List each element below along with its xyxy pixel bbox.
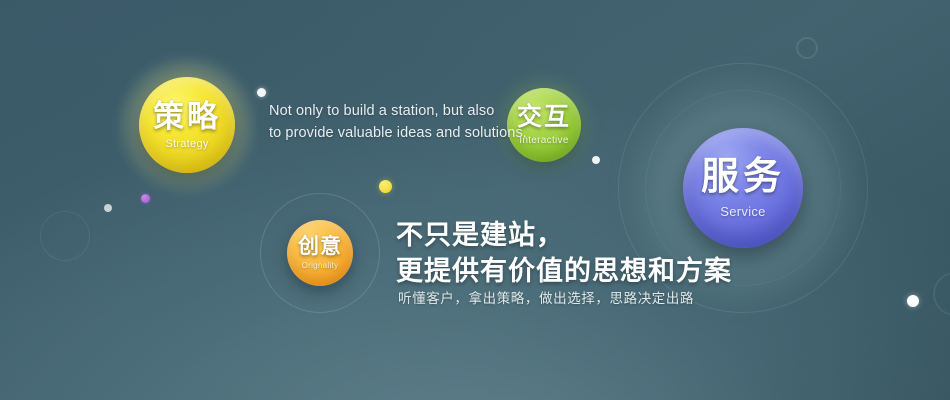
bubble-strategy-en: Strategy <box>165 139 208 150</box>
white-dot-right-icon <box>907 295 919 307</box>
purple-dot-icon <box>141 194 150 203</box>
ring-bottom-left-icon <box>40 211 90 261</box>
hero-banner: 策略 Strategy 交互 Interactive 创意 Orignality… <box>0 0 950 400</box>
white-dot-mid-icon <box>592 156 600 164</box>
ring-right-edge-icon <box>933 272 950 316</box>
bubble-service-en: Service <box>720 205 765 218</box>
bubble-originality-en: Orignality <box>302 262 339 270</box>
white-dot-left-icon <box>104 204 112 212</box>
intro-text: Not only to build a station, but also to… <box>269 100 527 145</box>
bubble-originality-cn: 创意 <box>298 236 342 257</box>
bubble-originality[interactable]: 创意 Orignality <box>287 220 353 286</box>
bubble-strategy-cn: 策略 <box>153 101 221 132</box>
subtitle: 听懂客户，拿出策略，做出选择，思路决定出路 <box>398 287 694 307</box>
yellow-dot-icon <box>379 180 392 193</box>
white-dot-top-icon <box>257 88 266 97</box>
ring-top-right-icon <box>796 37 818 59</box>
headline: 不只是建站， 更提供有价值的思想和方案 <box>396 218 732 290</box>
bubble-service-cn: 服务 <box>701 158 785 196</box>
bubble-strategy[interactable]: 策略 Strategy <box>139 77 235 173</box>
